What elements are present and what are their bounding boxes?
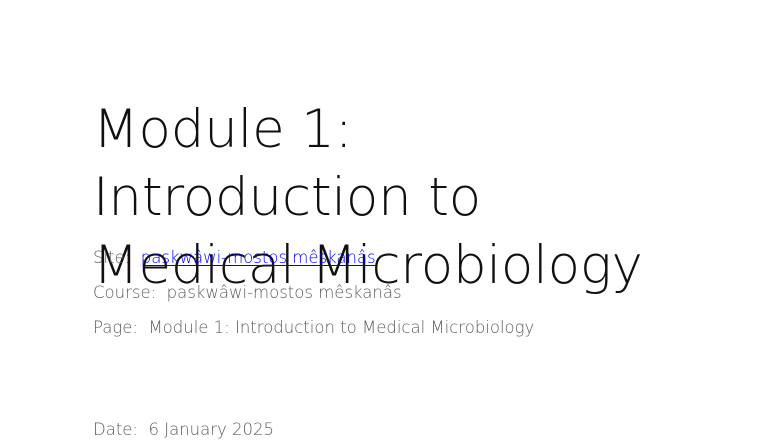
date-value: 6 January 2025	[149, 420, 275, 439]
course-label: Course:	[93, 283, 156, 302]
site-label: Site:	[93, 248, 130, 267]
course-value: paskwâwi-mostos mêskanâs	[167, 283, 402, 302]
document-metadata: Site: paskwâwi-mostos mêskanâs Course: p…	[93, 240, 713, 345]
meta-row-date: Date: 6 January 2025	[93, 418, 274, 442]
site-link[interactable]: paskwâwi-mostos mêskanâs	[141, 248, 376, 267]
date-label: Date:	[93, 420, 138, 439]
meta-row-site: Site: paskwâwi-mostos mêskanâs	[93, 240, 713, 275]
meta-row-page: Page: Module 1: Introduction to Medical …	[93, 310, 713, 345]
page-value: Module 1: Introduction to Medical Microb…	[148, 318, 534, 337]
meta-row-course: Course: paskwâwi-mostos mêskanâs	[93, 275, 713, 310]
document-page: Module 1: Introduction to Medical Microb…	[0, 0, 784, 441]
page-label: Page:	[93, 318, 138, 337]
